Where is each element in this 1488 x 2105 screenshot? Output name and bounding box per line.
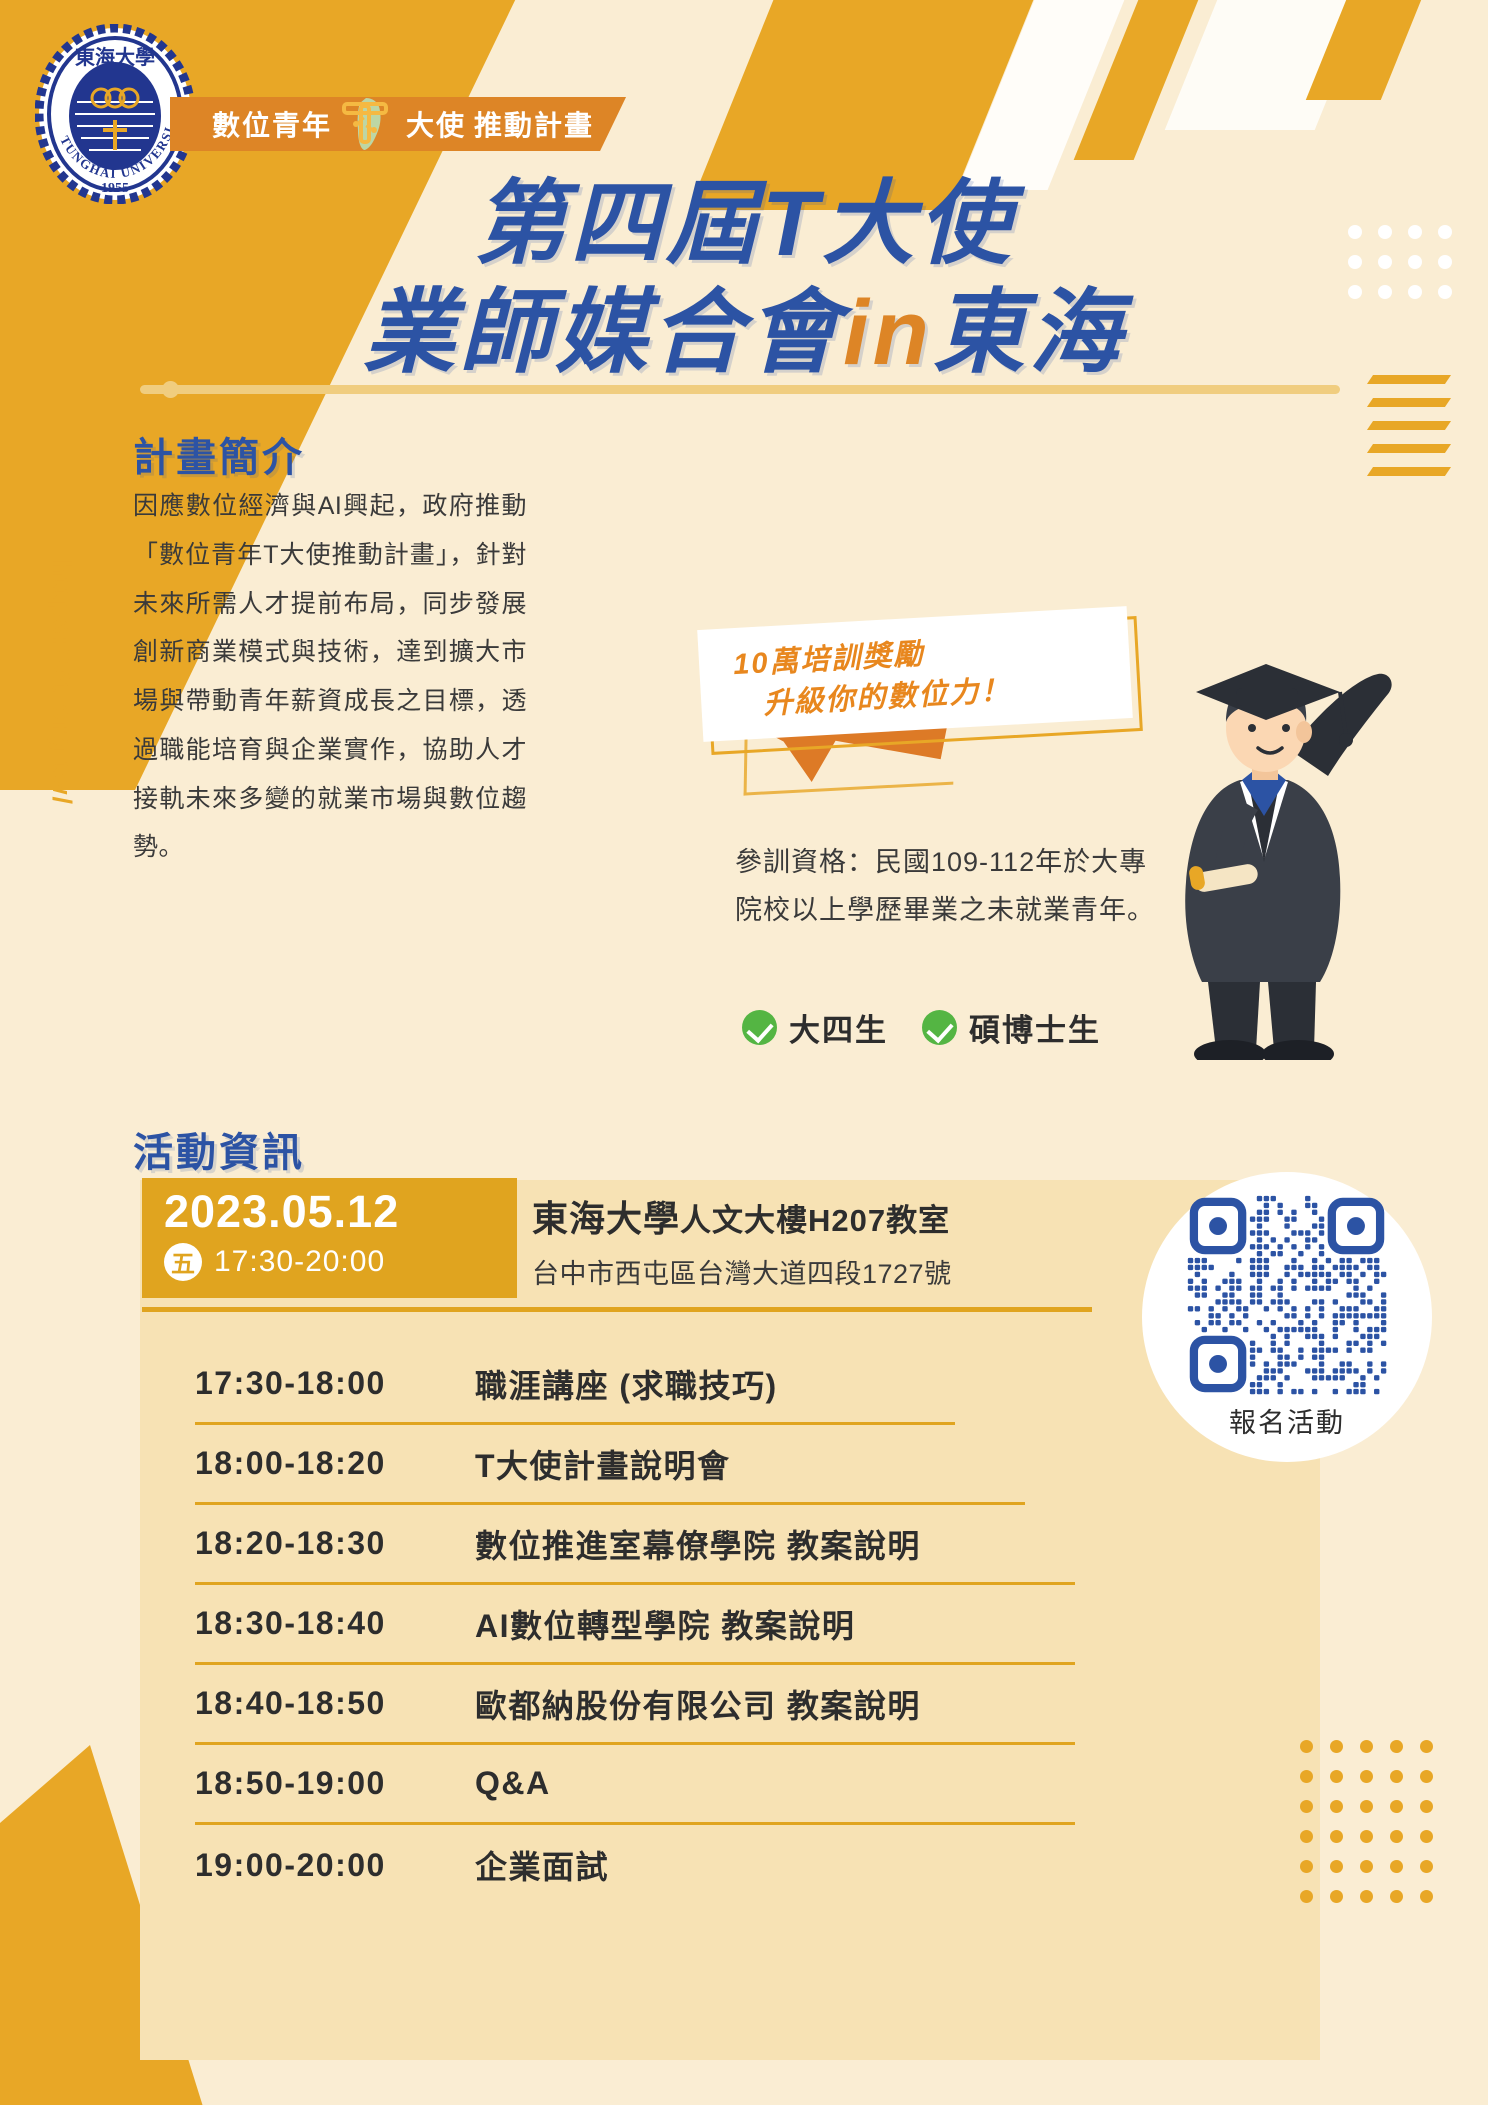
schedule-time: 17:30-18:00	[195, 1365, 475, 1402]
intro-paragraph: 因應數位經濟與AI興起，政府推動「數位青年T大使推動計畫」，針對未來所需人才提前…	[133, 482, 527, 872]
poster-title: 第四屆T大使 業師媒合會in東海	[0, 170, 1488, 387]
schedule-time: 18:50-19:00	[195, 1765, 475, 1802]
schedule-time: 18:30-18:40	[195, 1605, 475, 1642]
schedule-row: 18:30-18:40AI數位轉型學院 教案說明	[195, 1585, 1075, 1665]
schedule-item: T大使計畫說明會	[475, 1441, 731, 1487]
venue-address: 台中市西屯區台灣大道四段1727號	[532, 1252, 1172, 1291]
schedule-row: 18:40-18:50歐都納股份有限公司 教案說明	[195, 1665, 1075, 1745]
schedule-item: AI數位轉型學院 教案說明	[475, 1601, 855, 1647]
incentive-speech-bubble: 10萬培訓獎勵 升級你的數位力！	[700, 618, 1140, 738]
ribbon-text-after: 推動計畫	[474, 104, 594, 144]
schedule-time: 19:00-20:00	[195, 1847, 475, 1884]
program-ribbon: 數位青年 大使 推動計畫	[170, 97, 626, 151]
event-venue: 東海大學人文大樓H207教室 台中市西屯區台灣大道四段1727號	[532, 1190, 1172, 1291]
program-url[interactable]: https://3t.org.tw/	[46, 560, 77, 806]
qr-label: 報名活動	[1229, 1401, 1345, 1440]
event-date-chip: 2023.05.12 五 17:30-20:00	[142, 1178, 517, 1298]
decor-dot-grid-bottom	[1300, 1740, 1450, 1920]
badge-label-postgrad: 碩博士生	[969, 1005, 1101, 1050]
schedule-table: 17:30-18:00職涯講座 (求職技巧)18:00-18:20T大使計畫說明…	[195, 1345, 1245, 1905]
ribbon-text-before: 數位青年	[212, 104, 332, 144]
title-line-2: 業師媒合會in東海	[0, 279, 1488, 388]
t-ambassador-taiwan-logo-icon	[336, 96, 402, 152]
schedule-item: 職涯講座 (求職技巧)	[475, 1361, 778, 1407]
schedule-item: 數位推進室幕僚學院 教案說明	[475, 1521, 921, 1567]
venue-line-1: 東海大學人文大樓H207教室	[532, 1190, 1172, 1242]
title-line-2-accent: in	[843, 282, 933, 384]
poster-root: 東海大學 1955 TUNGHAI UNIVERSITY 數位青年 大使	[0, 0, 1488, 2105]
schedule-row: 18:00-18:20T大使計畫說明會	[195, 1425, 1025, 1505]
intro-heading: 計畫簡介	[133, 425, 305, 483]
event-time: 17:30-20:00	[214, 1245, 385, 1279]
schedule-row: 18:50-19:00Q&A	[195, 1745, 1075, 1825]
schedule-row: 18:20-18:30數位推進室幕僚學院 教案說明	[195, 1505, 1075, 1585]
venue-room: 人文大樓H207教室	[680, 1203, 950, 1238]
schedule-item: Q&A	[475, 1765, 551, 1802]
event-heading: 活動資訊	[133, 1120, 305, 1178]
schedule-item: 歐都納股份有限公司 教案說明	[475, 1681, 921, 1727]
title-divider	[140, 385, 1340, 394]
event-weekday-badge: 五	[164, 1243, 202, 1281]
title-line-1: 第四屆T大使	[0, 170, 1488, 279]
title-line-2-tail: 東海	[933, 282, 1125, 384]
ribbon-text-mid: 大使	[406, 104, 466, 144]
schedule-time: 18:20-18:30	[195, 1525, 475, 1562]
schedule-row: 17:30-18:00職涯講座 (求職技巧)	[195, 1345, 955, 1425]
schedule-row: 19:00-20:00企業面試	[195, 1825, 1075, 1905]
badge-undergrad: 大四生	[742, 1005, 888, 1050]
check-circle-icon	[742, 1010, 777, 1045]
event-date: 2023.05.12	[164, 1188, 517, 1237]
qualification-text: 參訓資格：民國109-112年於大專院校以上學歷畢業之未就業青年。	[735, 838, 1155, 934]
title-line-2-main: 業師媒合會	[363, 282, 843, 384]
venue-divider	[142, 1307, 1092, 1312]
schedule-item: 企業面試	[475, 1842, 609, 1888]
venue-name: 東海大學	[532, 1198, 680, 1239]
check-circle-icon	[922, 1010, 957, 1045]
badge-label-undergrad: 大四生	[789, 1005, 888, 1050]
svg-text:東海大學: 東海大學	[75, 45, 155, 69]
schedule-time: 18:00-18:20	[195, 1445, 475, 1482]
bubble-face: 10萬培訓獎勵 升級你的數位力！	[697, 606, 1133, 742]
qualification-badges: 大四生 碩博士生	[742, 1005, 1101, 1050]
schedule-time: 18:40-18:50	[195, 1685, 475, 1722]
event-time-row: 五 17:30-20:00	[164, 1243, 517, 1281]
badge-postgrad: 碩博士生	[922, 1005, 1101, 1050]
decor-diagonal-lines	[1370, 375, 1448, 490]
